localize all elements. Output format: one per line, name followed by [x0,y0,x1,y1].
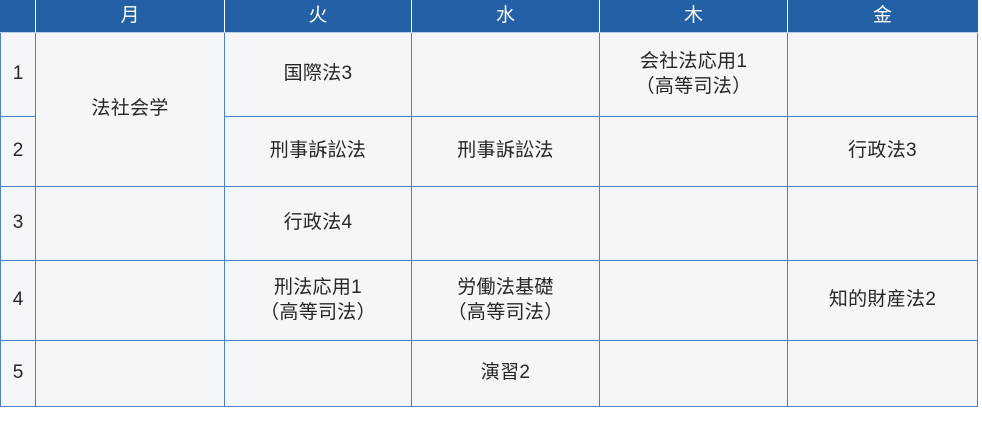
slot-text [36,373,224,374]
slot-friday-period-3[interactable] [788,187,978,261]
slot-wednesday-period-2[interactable]: 刑事訴訟法 [412,117,600,187]
slot-text [412,223,599,224]
slot-friday-period-4[interactable]: 知的財産法2 [788,261,978,341]
slot-text: 演習2 [412,361,599,385]
slot-text [788,373,977,374]
slot-text [600,373,787,374]
slot-text: 国際法3 [225,62,411,86]
table-row: 5 演習2 [1,341,978,407]
slot-text [600,151,787,152]
slot-text: 刑事訴訟法 [412,139,599,163]
slot-thursday-period-3[interactable] [600,187,788,261]
slot-text [225,373,411,374]
slot-friday-period-5[interactable] [788,341,978,407]
slot-monday-period-5[interactable] [36,341,225,407]
header-day-wednesday: 水 [412,1,600,33]
slot-text [36,223,224,224]
slot-friday-period-1[interactable] [788,33,978,117]
slot-wednesday-period-1[interactable] [412,33,600,117]
period-label-3: 3 [1,187,36,261]
slot-wednesday-period-5[interactable]: 演習2 [412,341,600,407]
slot-text: 行政法3 [788,139,977,163]
header-day-friday: 金 [788,1,978,33]
slot-thursday-period-4[interactable] [600,261,788,341]
slot-tuesday-period-4[interactable]: 刑法応用1 （高等司法） [225,261,412,341]
slot-monday-period-1[interactable]: 法社会学 [36,33,225,187]
slot-thursday-period-1[interactable]: 会社法応用1 （高等司法） [600,33,788,117]
slot-text [600,223,787,224]
period-label-4: 4 [1,261,36,341]
period-label-1: 1 [1,33,36,117]
slot-tuesday-period-2[interactable]: 刑事訴訟法 [225,117,412,187]
slot-thursday-period-5[interactable] [600,341,788,407]
slot-monday-period-3[interactable] [36,187,225,261]
slot-text [788,223,977,224]
slot-text [600,300,787,301]
slot-wednesday-period-3[interactable] [412,187,600,261]
slot-thursday-period-2[interactable] [600,117,788,187]
slot-text: 行政法4 [225,211,411,235]
header-day-monday: 月 [36,1,225,33]
slot-text: 法社会学 [36,97,224,121]
weekly-timetable: 月 火 水 木 金 1 法社会学 国際法3 [0,0,978,407]
header-day-thursday: 木 [600,1,788,33]
slot-tuesday-period-1[interactable]: 国際法3 [225,33,412,117]
slot-text: 会社法応用1 （高等司法） [600,50,787,99]
slot-text: 刑事訴訟法 [225,139,411,163]
header-corner-period [1,1,36,33]
timetable-root: 月 火 水 木 金 1 法社会学 国際法3 [0,0,982,422]
table-row: 1 法社会学 国際法3 会社法応用1 （高等司法） [1,33,978,117]
slot-text [412,74,599,75]
header-day-tuesday: 火 [225,1,412,33]
table-row: 3 行政法4 [1,187,978,261]
slot-friday-period-2[interactable]: 行政法3 [788,117,978,187]
slot-text: 労働法基礎 （高等司法） [412,276,599,325]
header-row: 月 火 水 木 金 [1,1,978,33]
slot-wednesday-period-4[interactable]: 労働法基礎 （高等司法） [412,261,600,341]
period-label-2: 2 [1,117,36,187]
table-row: 4 刑法応用1 （高等司法） 労働法基礎 （高等司法） 知的財産法2 [1,261,978,341]
slot-text [36,300,224,301]
timetable-body: 1 法社会学 国際法3 会社法応用1 （高等司法） [1,33,978,407]
timetable-header: 月 火 水 木 金 [1,1,978,33]
slot-tuesday-period-3[interactable]: 行政法4 [225,187,412,261]
slot-text: 刑法応用1 （高等司法） [225,276,411,325]
period-label-5: 5 [1,341,36,407]
slot-text: 知的財産法2 [788,288,977,312]
slot-monday-period-4[interactable] [36,261,225,341]
slot-tuesday-period-5[interactable] [225,341,412,407]
slot-text [788,74,977,75]
